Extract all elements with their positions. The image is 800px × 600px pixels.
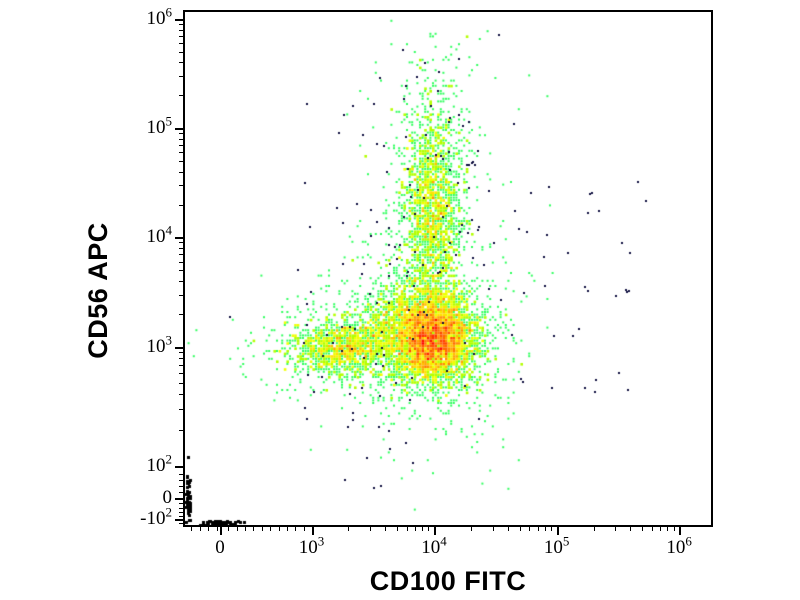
y-tick-major <box>175 19 185 21</box>
x-tick-minor <box>529 525 530 531</box>
x-tick-minor <box>415 525 416 531</box>
x-tick-minor <box>348 525 349 531</box>
x-tick-major <box>434 525 436 535</box>
y-tick-label: 0 <box>163 487 173 509</box>
scatter-canvas <box>185 12 711 525</box>
x-tick-major <box>557 525 559 535</box>
x-tick-label: 0 <box>215 537 225 559</box>
x-tick-label: 103 <box>299 537 325 559</box>
x-tick-minor <box>667 525 668 531</box>
x-tick-minor <box>304 525 305 531</box>
y-tick-label: -102 <box>140 508 172 530</box>
x-tick-minor <box>471 525 472 531</box>
x-tick-minor <box>287 525 288 531</box>
x-tick-minor <box>270 525 271 531</box>
x-tick-minor <box>674 525 675 531</box>
x-tick-minor <box>228 525 229 531</box>
x-tick-label: 105 <box>544 537 570 559</box>
x-tick-minor <box>217 525 218 531</box>
x-tick-minor <box>630 525 631 531</box>
x-tick-minor <box>615 525 616 531</box>
y-tick-major <box>175 519 185 521</box>
x-tick-minor <box>385 525 386 531</box>
x-tick-minor <box>253 525 254 531</box>
y-tick-label: 106 <box>147 8 173 30</box>
y-tick-label: 104 <box>147 226 173 248</box>
x-tick-minor <box>594 525 595 531</box>
x-tick-minor <box>370 525 371 531</box>
x-tick-major <box>312 525 314 535</box>
x-tick-minor <box>551 525 552 531</box>
x-tick-minor <box>245 525 246 531</box>
x-tick-major <box>220 525 222 535</box>
x-tick-minor <box>237 525 238 531</box>
x-tick-minor <box>397 525 398 531</box>
x-tick-minor <box>652 525 653 531</box>
y-axis-title: CD56 APC <box>78 160 118 420</box>
x-tick-minor <box>208 525 209 531</box>
x-tick-minor <box>422 525 423 531</box>
y-tick-major <box>175 466 185 468</box>
x-tick-minor <box>428 525 429 531</box>
y-tick-major <box>175 347 185 349</box>
x-tick-minor <box>508 525 509 531</box>
y-axis-title-text: CD56 APC <box>83 222 114 359</box>
x-tick-minor <box>262 525 263 531</box>
y-tick-major <box>175 128 185 130</box>
x-axis-title: CD100 FITC <box>183 566 713 597</box>
x-tick-label: 106 <box>666 537 692 559</box>
y-tick-label: 105 <box>147 117 173 139</box>
x-tick-minor <box>493 525 494 531</box>
y-tick-major <box>175 237 185 239</box>
y-tick-major <box>175 498 185 500</box>
x-tick-label: 104 <box>421 537 447 559</box>
x-tick-major <box>679 525 681 535</box>
x-tick-minor <box>660 525 661 531</box>
x-tick-minor <box>642 525 643 531</box>
x-tick-minor <box>520 525 521 531</box>
x-tick-minor <box>545 525 546 531</box>
x-tick-minor <box>279 525 280 531</box>
x-tick-minor <box>200 525 201 531</box>
flow-cytometry-dotplot: CD56 APC CD100 FITC -1020102103104105106… <box>0 0 800 600</box>
y-tick-label: 103 <box>147 336 173 358</box>
x-tick-minor <box>295 525 296 531</box>
x-tick-minor <box>538 525 539 531</box>
x-tick-minor <box>407 525 408 531</box>
y-tick-label: 102 <box>147 455 173 477</box>
x-tick-minor <box>191 525 192 531</box>
